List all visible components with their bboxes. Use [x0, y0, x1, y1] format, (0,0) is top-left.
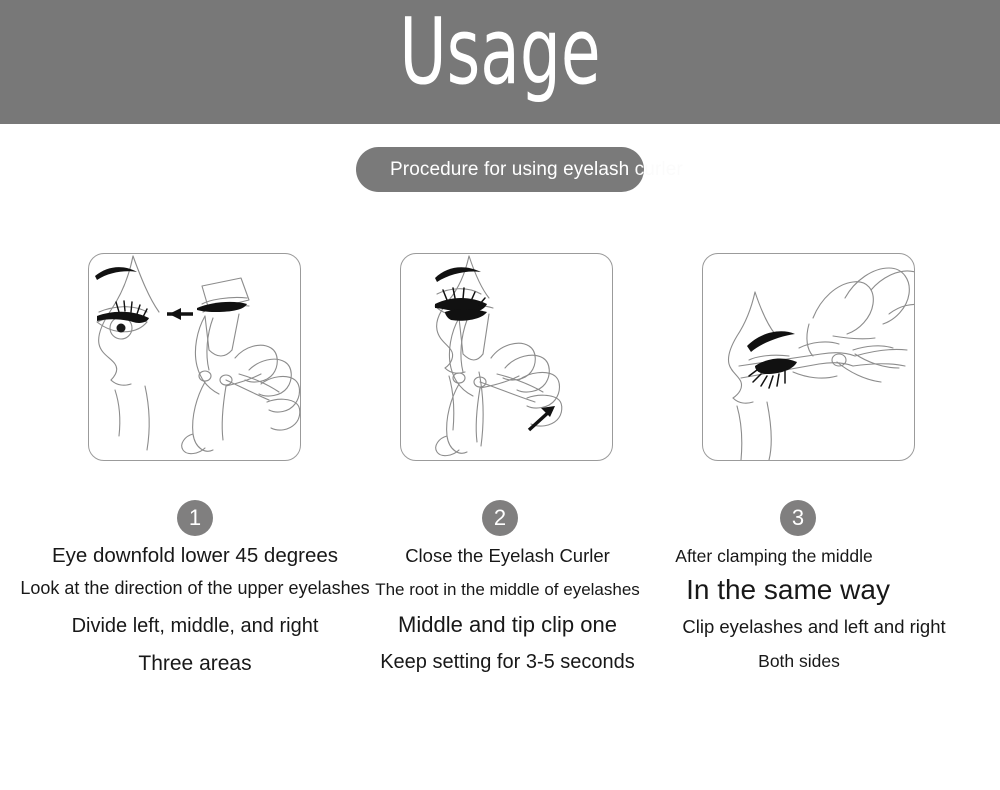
caption-line: Divide left, middle, and right	[29, 616, 361, 636]
step-badge-3: 3	[780, 500, 816, 536]
subtitle-pill-label: Procedure for using eyelash	[390, 159, 629, 180]
left-arrow-icon	[167, 308, 193, 320]
eyebrow-shape	[435, 267, 481, 282]
curler-pad-shape	[445, 309, 487, 321]
step-column-3: 3 After clamping the middle In the same …	[643, 250, 976, 690]
subtitle-text-wrap: Procedure for using eyelash curler	[356, 147, 1000, 192]
caption-line: Three areas	[29, 653, 361, 674]
caption-line: Both sides	[643, 653, 955, 671]
page-title: Usage	[110, 0, 890, 104]
subtitle-zone: Procedure for using eyelash curler	[0, 147, 1000, 193]
steps-container: 1 Eye downfold lower 45 degrees Look at …	[0, 250, 1000, 690]
subtitle-line: Procedure for using eyelash curler	[356, 159, 683, 181]
step-column-1: 1 Eye downfold lower 45 degrees Look at …	[29, 250, 362, 690]
caption-line: In the same way	[643, 576, 933, 604]
caption-line: Eye downfold lower 45 degrees	[29, 546, 361, 567]
subtitle-overflow-label: curler	[629, 159, 683, 180]
step-badge-2: 2	[482, 500, 518, 536]
curler-pad-shape	[197, 302, 247, 312]
closing-eyelash-curler-illustration	[401, 254, 612, 460]
figure-frame-3	[702, 253, 915, 461]
caption-line: Keep setting for 3-5 seconds	[341, 652, 674, 672]
step-badge-1: 1	[177, 500, 213, 536]
figure-frame-2	[400, 253, 613, 461]
header-band: Usage	[0, 0, 1000, 124]
clamping-middle-section-illustration	[703, 254, 914, 460]
figure-frame-1	[88, 253, 301, 461]
upper-lash-shape	[755, 359, 797, 374]
eyelash-curler-approaching-eye-illustration	[89, 254, 300, 460]
caption-line: Close the Eyelash Curler	[341, 547, 674, 566]
caption-line: After clamping the middle	[643, 548, 905, 566]
caption-line: Look at the direction of the upper eyela…	[5, 579, 385, 597]
step-column-2: 2 Close the Eyelash Curler The root in t…	[341, 250, 674, 690]
caption-line: Clip eyelashes and left and right	[643, 618, 985, 637]
caption-line: The root in the middle of eyelashes	[341, 581, 674, 598]
caption-line: Middle and tip clip one	[341, 614, 674, 636]
eyebrow-shape	[95, 267, 137, 280]
eyebrow-shape	[747, 331, 795, 352]
